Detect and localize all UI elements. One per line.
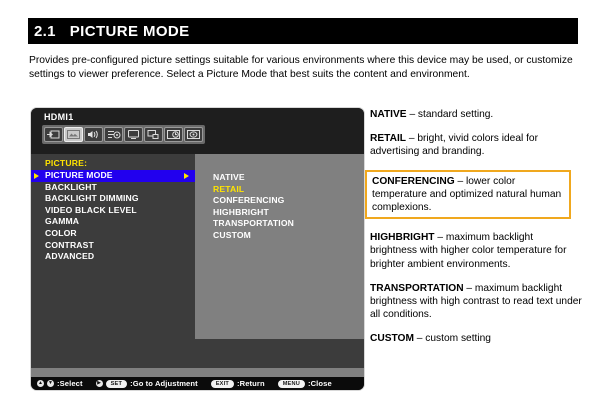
menu-item-label: VIDEO BLACK LEVEL bbox=[45, 205, 137, 215]
select-hint: :Select bbox=[57, 379, 83, 388]
picture-mode-descriptions: NATIVE – standard setting. RETAIL – brig… bbox=[370, 108, 582, 357]
nav-up-icon[interactable]: ▲ bbox=[37, 380, 44, 387]
osd-menu-heading: PICTURE: bbox=[45, 158, 87, 168]
option-retail[interactable]: RETAIL bbox=[213, 184, 363, 196]
mode-text: – standard setting. bbox=[407, 109, 494, 120]
osd-settings-icon[interactable] bbox=[104, 127, 123, 142]
option-native[interactable]: NATIVE bbox=[213, 172, 363, 184]
menu-button[interactable]: MENU bbox=[278, 380, 305, 388]
nav-down-icon[interactable]: ▼ bbox=[47, 380, 54, 387]
submenu-chevron-icon bbox=[184, 173, 189, 179]
picture-icon[interactable] bbox=[64, 127, 83, 142]
osd-source-label: HDMI1 bbox=[44, 112, 74, 122]
osd-icon-toolbar[interactable] bbox=[42, 125, 205, 144]
mode-name: HIGHBRIGHT bbox=[370, 232, 435, 243]
input-icon[interactable] bbox=[44, 127, 63, 142]
description-retail: RETAIL – bright, vivid colors ideal for … bbox=[370, 132, 582, 158]
section-number: 2.1 bbox=[28, 23, 56, 40]
document-page: 2.1 PICTURE MODE Provides pre-configured… bbox=[0, 0, 600, 405]
display-monitor-icon[interactable] bbox=[124, 127, 143, 142]
schedule-clock-icon[interactable] bbox=[164, 127, 183, 142]
menu-item-contrast[interactable]: CONTRAST bbox=[31, 240, 195, 252]
close-hint: :Close bbox=[308, 379, 332, 388]
mode-name: CUSTOM bbox=[370, 333, 414, 344]
osd-screenshot: HDMI1 bbox=[31, 108, 364, 390]
description-conferencing: CONFERENCING – lower color temperature a… bbox=[365, 170, 571, 220]
mode-name: RETAIL bbox=[370, 133, 406, 144]
return-hint: :Return bbox=[237, 379, 265, 388]
menu-item-label: GAMMA bbox=[45, 216, 79, 226]
description-native: NATIVE – standard setting. bbox=[370, 108, 582, 121]
osd-menu-list[interactable]: PICTURE MODE BACKLIGHT BACKLIGHT DIMMING… bbox=[31, 170, 195, 263]
description-highbright: HIGHBRIGHT – maximum backlight brightnes… bbox=[370, 231, 582, 271]
menu-item-backlight[interactable]: BACKLIGHT bbox=[31, 182, 195, 194]
menu-item-picture-mode[interactable]: PICTURE MODE bbox=[31, 170, 195, 182]
system-info-icon[interactable] bbox=[184, 127, 203, 142]
section-header: 2.1 PICTURE MODE bbox=[28, 18, 578, 44]
mode-name: TRANSPORTATION bbox=[370, 283, 464, 294]
menu-item-label: BACKLIGHT DIMMING bbox=[45, 193, 139, 203]
osd-status-bar: ▲ ▼ :Select ▶ SET :Go to Adjustment EXIT… bbox=[31, 377, 364, 390]
description-transportation: TRANSPORTATION – maximum backlight brigh… bbox=[370, 282, 582, 322]
mode-name: CONFERENCING bbox=[372, 176, 455, 187]
menu-item-color[interactable]: COLOR bbox=[31, 228, 195, 240]
nav-right-icon[interactable]: ▶ bbox=[96, 380, 103, 387]
menu-item-label: COLOR bbox=[45, 228, 77, 238]
menu-item-label: CONTRAST bbox=[45, 240, 94, 250]
menu-item-gamma[interactable]: GAMMA bbox=[31, 216, 195, 228]
set-button[interactable]: SET bbox=[106, 380, 127, 388]
cursor-arrow-icon bbox=[34, 173, 39, 179]
menu-item-label: BACKLIGHT bbox=[45, 182, 97, 192]
mode-text: – custom setting bbox=[414, 333, 491, 344]
option-transportation[interactable]: TRANSPORTATION bbox=[213, 218, 363, 230]
menu-item-advanced[interactable]: ADVANCED bbox=[31, 251, 195, 263]
mode-name: NATIVE bbox=[370, 109, 407, 120]
menu-item-video-black-level[interactable]: VIDEO BLACK LEVEL bbox=[31, 205, 195, 217]
multi-input-icon[interactable] bbox=[144, 127, 163, 142]
menu-item-label: PICTURE MODE bbox=[45, 170, 113, 180]
option-conferencing[interactable]: CONFERENCING bbox=[213, 195, 363, 207]
menu-item-backlight-dimming[interactable]: BACKLIGHT DIMMING bbox=[31, 193, 195, 205]
option-custom[interactable]: CUSTOM bbox=[213, 230, 363, 242]
option-highbright[interactable]: HIGHBRIGHT bbox=[213, 207, 363, 219]
exit-button[interactable]: EXIT bbox=[211, 380, 234, 388]
description-custom: CUSTOM – custom setting bbox=[370, 332, 582, 345]
osd-body: PICTURE: PICTURE MODE BACKLIGHT BACKLIGH… bbox=[31, 154, 364, 368]
osd-topbar: HDMI1 bbox=[31, 108, 364, 154]
menu-item-label: ADVANCED bbox=[45, 251, 94, 261]
osd-picture-mode-options[interactable]: NATIVE RETAIL CONFERENCING HIGHBRIGHT TR… bbox=[213, 172, 363, 242]
section-title: PICTURE MODE bbox=[56, 23, 190, 40]
audio-speaker-icon[interactable] bbox=[84, 127, 103, 142]
goto-hint: :Go to Adjustment bbox=[130, 379, 198, 388]
intro-paragraph: Provides pre-configured picture settings… bbox=[29, 54, 577, 82]
